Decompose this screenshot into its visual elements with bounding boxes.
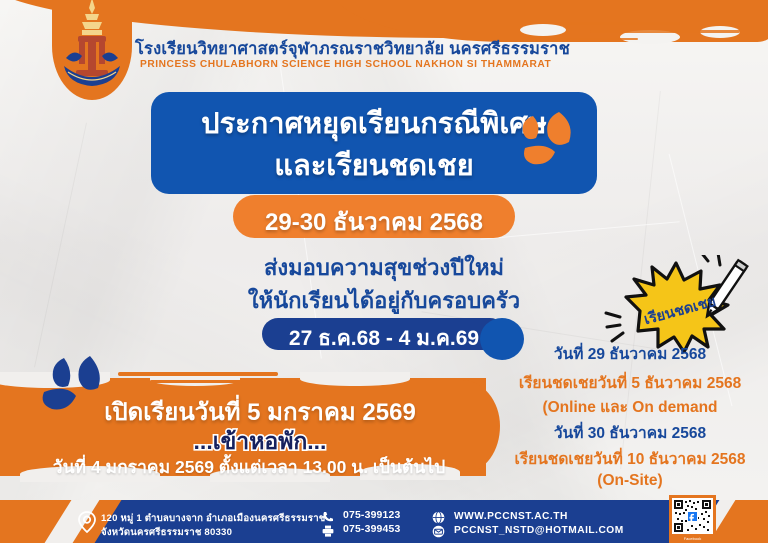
- holiday-range-label: 27 ธ.ค.68 - 4 ม.ค.69: [262, 322, 506, 355]
- makeup-line-5: เรียนชดเชยวันที่ 10 ธันวาคม 2568: [492, 446, 768, 471]
- brush-wisp: [118, 372, 278, 376]
- makeup-line-2: เรียนชดเชยวันที่ 5 ธันวาคม 2568: [492, 370, 768, 395]
- fax-icon: [322, 525, 334, 537]
- school-title-en: PRINCESS CHULABHORN SCIENCE HIGH SCHOOL …: [140, 59, 660, 70]
- paper-crease: [34, 123, 87, 368]
- footer-fax[interactable]: 075-399453: [343, 524, 400, 535]
- footer-website[interactable]: WWW.PCCNST.AC.TH: [454, 511, 568, 522]
- footer-phone[interactable]: 075-399123: [343, 510, 400, 521]
- holiday-date-pill: 29-30 ธันวาคม 2568: [233, 195, 515, 238]
- makeup-line-3: (Online และ On demand: [492, 394, 768, 419]
- orange-petals-decor: [513, 110, 587, 176]
- footer-bar: 120 หมู่ 1 ตำบลบางจาก อำเภอเมืองนครศรีธร…: [0, 500, 768, 543]
- globe-icon: [432, 511, 445, 524]
- brush-notch: [520, 24, 566, 36]
- brush-wisp: [150, 380, 290, 383]
- makeup-line-6: (On-Site): [492, 472, 768, 490]
- facebook-qr-code[interactable]: Facebook: [669, 495, 716, 543]
- brush-notch: [300, 372, 410, 386]
- phone-icon: [322, 511, 334, 523]
- holiday-date-label: 29-30 ธันวาคม 2568: [233, 202, 515, 241]
- brush-wisp: [560, 22, 680, 25]
- school-crest-logo: [52, 0, 132, 100]
- holiday-range-pill: 27 ธ.ค.68 - 4 ม.ค.69: [262, 318, 506, 350]
- qr-code-image: [672, 498, 713, 534]
- makeup-line-1: วันที่ 29 ธันวาคม 2568: [492, 341, 768, 366]
- location-pin-icon: [78, 511, 96, 533]
- footer-address-line-2: จังหวัดนครศรีธรรมราช 80330: [101, 525, 232, 540]
- makeup-line-4: วันที่ 30 ธันวาคม 2568: [492, 420, 768, 445]
- main-announcement-banner: ประกาศหยุดเรียนกรณีพิเศษ และเรียนชดเชย: [151, 92, 597, 194]
- footer-email[interactable]: PCCNST_NSTD@HOTMAIL.COM: [454, 525, 624, 536]
- brush-wisp: [590, 30, 740, 33]
- qr-caption: Facebook: [669, 535, 716, 542]
- announcement-poster: โรงเรียนวิทยาศาสตร์จุฬาภรณราชวิทยาลัย นค…: [0, 0, 768, 543]
- opening-line-3: วันที่ 4 มกราคม 2569 ตั้งแต่เวลา 13.00 น…: [14, 453, 484, 481]
- footer-address-line-1: 120 หมู่ 1 ตำบลบางจาก อำเภอเมืองนครศรีธร…: [101, 511, 326, 526]
- envelope-icon: [432, 525, 445, 538]
